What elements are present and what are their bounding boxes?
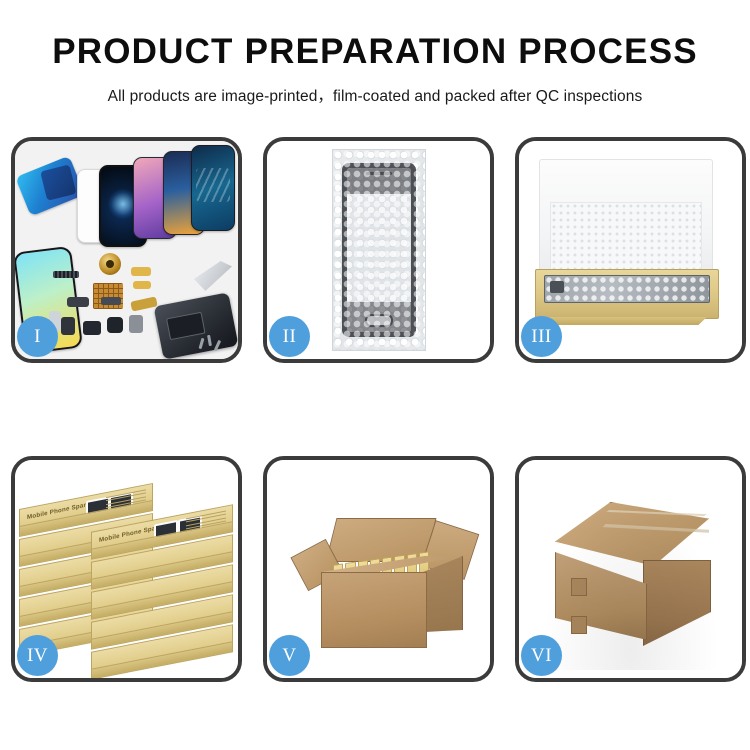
carton-front-face (321, 572, 427, 648)
step-badge-2: II (269, 316, 310, 357)
product-preparation-process-page: PRODUCT PREPARATION PROCESS All products… (0, 0, 750, 750)
blue-phone-back-icon (15, 156, 85, 217)
process-step-panel-4: Mobile Phone Spare Parts Mobile Phone Sp… (11, 456, 242, 682)
glass-bottom-band (347, 302, 411, 332)
process-step-panel-2: II (263, 137, 494, 363)
process-step-panel-3: III (515, 137, 746, 363)
step-badge-6: VI (521, 635, 562, 676)
phone-glass-panel (342, 163, 416, 337)
speaker-part-icon (107, 317, 123, 333)
screws-icon (198, 335, 224, 353)
process-step-panel-5: V (263, 456, 494, 682)
step-badge-5: V (269, 635, 310, 676)
carton-right-face (643, 560, 711, 646)
ribbon-part-icon (101, 297, 121, 305)
flex-cable-icon (130, 296, 158, 311)
kraft-box-tray (535, 269, 719, 319)
gold-flex-part-icon-2 (133, 281, 151, 289)
connector-part-icon (53, 271, 79, 278)
sealed-carton (541, 490, 721, 656)
open-carton (295, 502, 463, 652)
chip-grid-icon (93, 283, 123, 309)
page-title: PRODUCT PREPARATION PROCESS (0, 34, 750, 69)
step-badge-1: I (17, 316, 58, 357)
page-header: PRODUCT PREPARATION PROCESS All products… (0, 0, 750, 106)
bubble-wrap-sheet (332, 149, 426, 351)
tweezers-icon (194, 261, 232, 291)
teal-phone-icon (191, 145, 235, 231)
carton-tab-upper (571, 578, 587, 596)
process-step-grid: I II III (11, 137, 739, 682)
wrapped-screen-in-tray (544, 275, 710, 303)
metal-bracket-icon (129, 315, 143, 333)
process-step-panel-1: I (11, 137, 242, 363)
step-badge-3: III (521, 316, 562, 357)
camera-part-icon (83, 321, 101, 335)
small-module-icon (67, 297, 89, 307)
carton-tab-lower (571, 616, 587, 634)
process-step-panel-6: VI (515, 456, 746, 682)
logic-board-icon (154, 292, 238, 359)
glass-top-band (347, 168, 411, 194)
battery-part-icon (61, 317, 75, 335)
gold-flex-part-icon (131, 267, 151, 276)
step-badge-4: IV (17, 635, 58, 676)
white-foam-lid (539, 159, 713, 279)
page-subtitle: All products are image-printed，film-coat… (0, 84, 750, 106)
coil-part-icon (99, 253, 121, 275)
